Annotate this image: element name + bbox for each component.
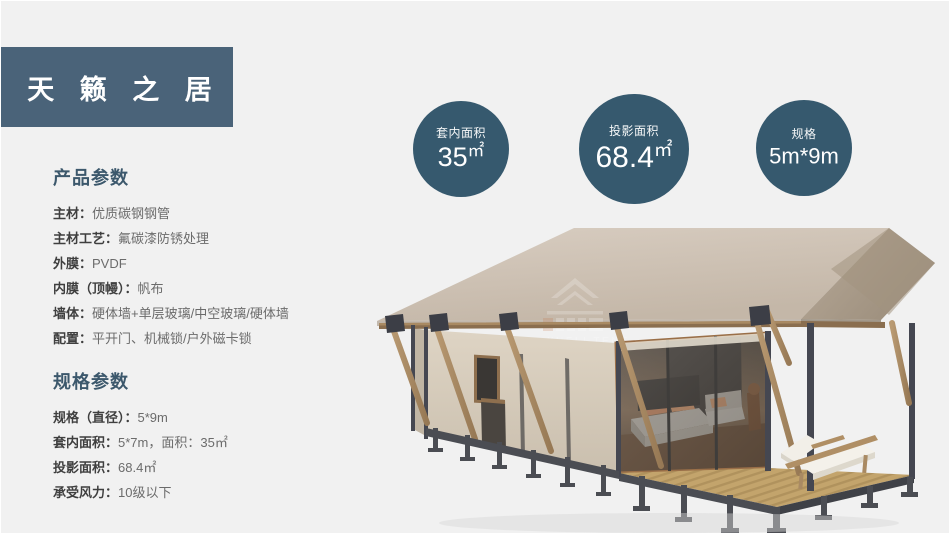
- spec-label: 墙体：: [53, 306, 92, 321]
- spec-value: 氟碳漆防锈处理: [118, 231, 209, 246]
- spec-list-product: 主材：优质碳钢钢管 主材工艺：氟碳漆防锈处理 外膜：PVDF 内膜（顶幔）：帆布…: [53, 201, 383, 351]
- spec-row: 承受风力：10级以下: [53, 480, 383, 505]
- stat-badge-projected-area: 投影面积 68.4㎡: [579, 94, 689, 204]
- spec-value: 优质碳钢钢管: [92, 206, 170, 221]
- spec-row: 配置：平开门、机械锁/户外磁卡锁: [53, 326, 383, 351]
- stat-value: 5m*9m: [769, 144, 839, 167]
- spec-value: 5*7m，面积：35㎡: [118, 435, 228, 450]
- spec-value: 硬体墙+单层玻璃/中空玻璃/硬体墙: [92, 306, 289, 321]
- spec-label: 外膜：: [53, 256, 92, 271]
- spec-row: 外膜：PVDF: [53, 251, 383, 276]
- spec-row: 套内面积：5*7m，面积：35㎡: [53, 430, 383, 455]
- stat-number: 5m*9m: [769, 144, 839, 169]
- spec-value: 68.4㎡: [118, 460, 156, 475]
- spec-row: 内膜（顶幔）：帆布: [53, 276, 383, 301]
- spec-row: 主材工艺：氟碳漆防锈处理: [53, 226, 383, 251]
- spec-row: 主材：优质碳钢钢管: [53, 201, 383, 226]
- spec-value: PVDF: [92, 256, 127, 271]
- spec-label: 承受风力：: [53, 485, 118, 500]
- stat-value: 35㎡: [438, 143, 485, 171]
- spec-label: 投影面积：: [53, 460, 118, 475]
- spec-row: 墙体：硬体墙+单层玻璃/中空玻璃/硬体墙: [53, 301, 383, 326]
- spec-section-product: 产品参数 主材：优质碳钢钢管 主材工艺：氟碳漆防锈处理 外膜：PVDF 内膜（顶…: [53, 169, 383, 351]
- stat-badge-dimensions: 规格 5m*9m: [756, 100, 852, 196]
- spec-label: 配置：: [53, 331, 92, 346]
- stat-label: 投影面积: [609, 125, 659, 137]
- stat-label: 规格: [791, 128, 816, 140]
- stat-badge-interior-area: 套内面积 35㎡: [413, 101, 509, 197]
- slide-canvas: 天 籁 之 居 产品参数 主材：优质碳钢钢管 主材工艺：氟碳漆防锈处理 外膜：P…: [0, 0, 950, 534]
- spec-label: 主材：: [53, 206, 92, 221]
- spec-label: 规格（直径）：: [53, 410, 138, 425]
- stat-number: 35: [438, 142, 468, 172]
- stat-unit: ㎡: [468, 141, 485, 160]
- tent-render-image: XUELI TENT: [369, 223, 950, 534]
- spec-value: 平开门、机械锁/户外磁卡锁: [92, 331, 252, 346]
- spec-list-specification: 规格（直径）：5*9m 套内面积：5*7m，面积：35㎡ 投影面积：68.4㎡ …: [53, 405, 383, 505]
- stat-unit: ㎡: [654, 139, 673, 160]
- spec-label: 主材工艺：: [53, 231, 118, 246]
- stat-value: 68.4㎡: [596, 141, 673, 173]
- spec-value: 5*9m: [138, 410, 168, 425]
- spec-label: 套内面积：: [53, 435, 118, 450]
- spec-row: 投影面积：68.4㎡: [53, 455, 383, 480]
- spec-value: 帆布: [138, 281, 164, 296]
- page-title: 天 籁 之 居: [13, 68, 221, 107]
- section-heading-product: 产品参数: [53, 169, 383, 189]
- spec-row: 规格（直径）：5*9m: [53, 405, 383, 430]
- spec-section-specification: 规格参数 规格（直径）：5*9m 套内面积：5*7m，面积：35㎡ 投影面积：6…: [53, 373, 383, 505]
- stat-label: 套内面积: [436, 127, 486, 139]
- spec-value: 10级以下: [118, 485, 171, 500]
- stat-number: 68.4: [596, 141, 654, 174]
- spec-panel: 产品参数 主材：优质碳钢钢管 主材工艺：氟碳漆防锈处理 外膜：PVDF 内膜（顶…: [53, 169, 383, 505]
- section-heading-specification: 规格参数: [53, 373, 383, 393]
- spec-label: 内膜（顶幔）：: [53, 281, 138, 296]
- title-banner: 天 籁 之 居: [1, 47, 233, 127]
- tent-canopy: [377, 228, 935, 326]
